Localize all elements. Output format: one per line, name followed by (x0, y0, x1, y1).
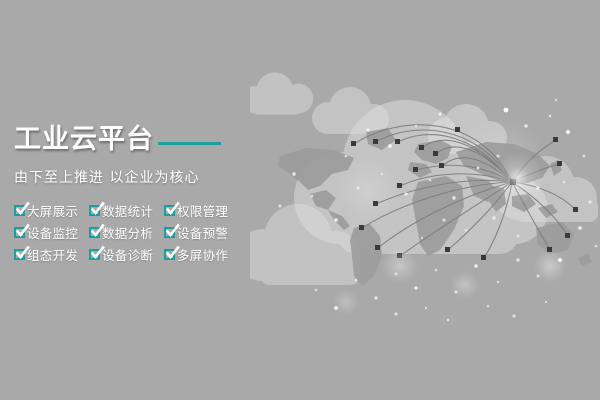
check-icon (164, 249, 175, 260)
page-title: 工业云平台 (14, 126, 154, 153)
feature-item[interactable]: 大屏展示 (14, 201, 89, 220)
check-icon (89, 249, 100, 260)
check-icon (164, 205, 175, 216)
feature-label: 数据分析 (102, 223, 153, 242)
sparkle-icon (492, 152, 544, 204)
feature-label: 设备诊断 (102, 245, 153, 264)
hero-banner: 工业云平台 由下至上推进 以企业为核心 大屏展示 数据统计 (0, 0, 600, 400)
check-icon (14, 205, 25, 216)
feature-item[interactable]: 组态开发 (14, 245, 89, 264)
feature-label: 权限管理 (177, 201, 228, 220)
check-icon (14, 249, 25, 260)
feature-label: 多屏协作 (177, 245, 228, 264)
check-icon (164, 227, 175, 238)
sparkle-icon (451, 271, 479, 299)
feature-label: 组态开发 (27, 245, 78, 264)
check-icon (89, 205, 100, 216)
feature-label: 大屏展示 (27, 201, 78, 220)
feature-item[interactable]: 多屏协作 (164, 245, 239, 264)
feature-label: 数据统计 (102, 201, 153, 220)
feature-label: 设备预警 (177, 223, 228, 242)
check-icon (89, 227, 100, 238)
sparkle-icon (333, 289, 359, 315)
sparkle-icon (382, 248, 418, 284)
title-row: 工业云平台 (14, 122, 264, 156)
feature-label: 设备监控 (27, 223, 78, 242)
cloud-icon (250, 72, 313, 114)
hero-text-block: 工业云平台 由下至上推进 以企业为核心 大屏展示 数据统计 (14, 122, 264, 264)
feature-item[interactable]: 设备诊断 (89, 245, 164, 264)
feature-item[interactable]: 数据统计 (89, 201, 164, 220)
feature-item[interactable]: 权限管理 (164, 201, 239, 220)
cloud-world-map-illustration (250, 70, 600, 330)
hero-subtitle: 由下至上推进 以企业为核心 (14, 167, 264, 187)
horizontal-rule-icon (158, 142, 221, 145)
check-icon (14, 227, 25, 238)
feature-item[interactable]: 设备预警 (164, 223, 239, 242)
feature-item[interactable]: 设备监控 (14, 223, 89, 242)
sparkle-icon (534, 250, 566, 282)
feature-list: 大屏展示 数据统计 权限管理 设备监控 (14, 201, 264, 264)
feature-item[interactable]: 数据分析 (89, 223, 164, 242)
